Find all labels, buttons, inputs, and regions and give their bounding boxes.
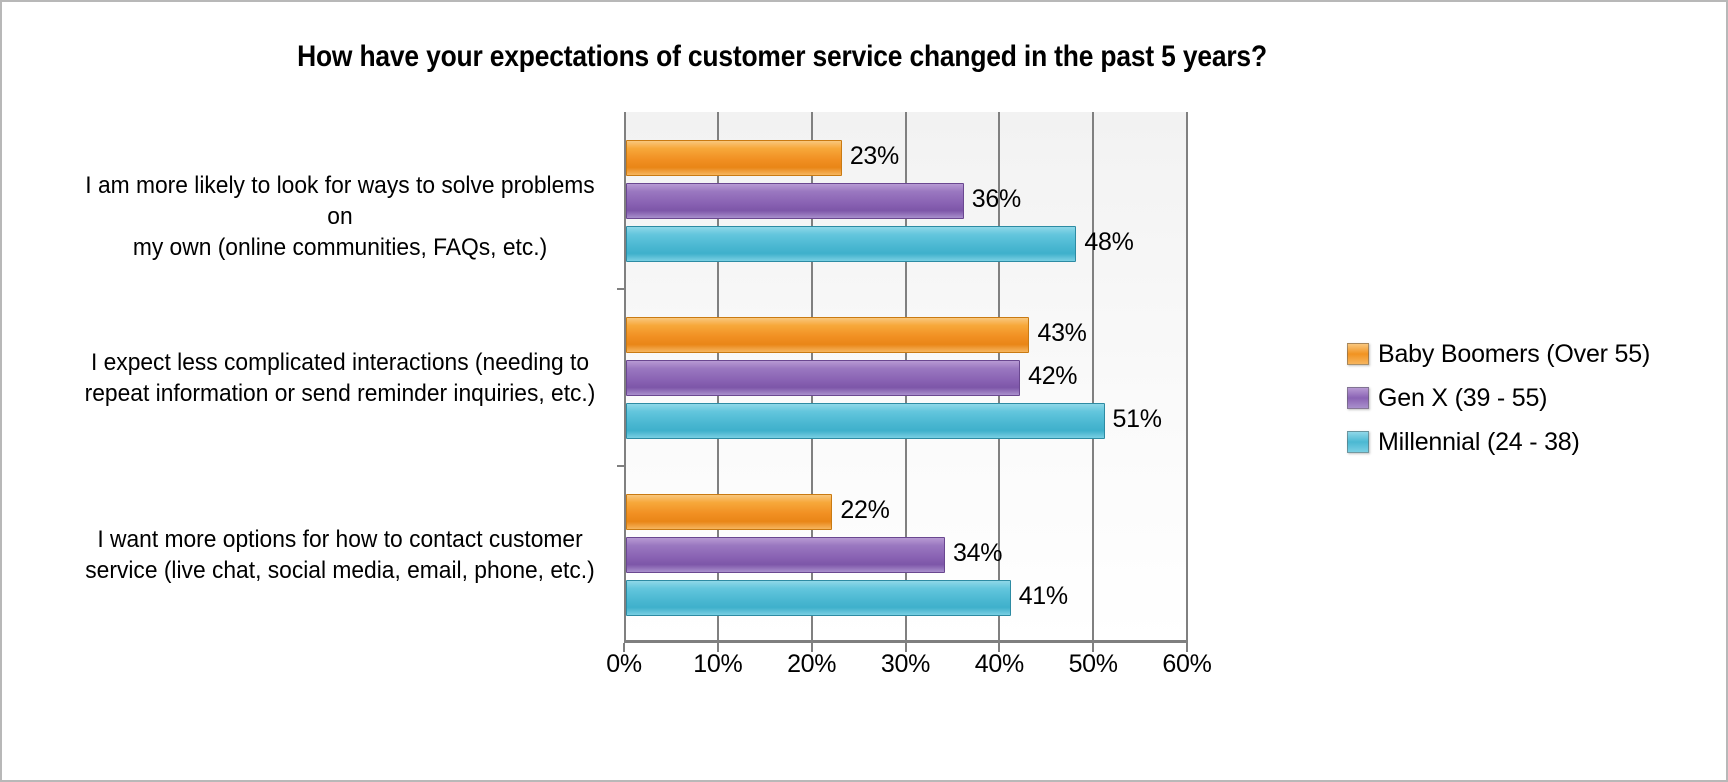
x-tick-label: 40% [954,650,1044,679]
category-label: I want more options for how to contact c… [74,524,606,586]
bar-value-label: 22% [840,496,889,525]
legend-label: Millennial (24 - 38) [1378,428,1580,457]
category-label: I am more likely to look for ways to sol… [74,170,606,263]
chart-canvas: How have your expectations of customer s… [0,0,1728,782]
bar [626,360,1020,396]
bar-value-label: 23% [850,142,899,171]
category-label: I expect less complicated interactions (… [74,347,606,409]
category-label-line: I want more options for how to contact c… [74,524,606,555]
plot-area [624,112,1187,643]
category-label-line: I am more likely to look for ways to sol… [74,170,606,232]
bar-value-label: 41% [1019,582,1068,611]
x-tick-label: 30% [861,650,951,679]
legend-label: Baby Boomers (Over 55) [1378,340,1650,369]
category-label-line: I expect less complicated interactions (… [74,347,606,378]
legend-swatch-icon [1347,431,1369,453]
legend-item[interactable]: Millennial (24 - 38) [1347,420,1677,464]
y-tickmark [617,465,624,467]
legend-label: Gen X (39 - 55) [1378,384,1547,413]
y-tickmark [617,288,624,290]
category-label-line: repeat information or send reminder inqu… [74,378,606,409]
bar-value-label: 42% [1028,362,1077,391]
x-tick-label: 50% [1048,650,1138,679]
legend-item[interactable]: Baby Boomers (Over 55) [1347,332,1677,376]
category-label-line: service (live chat, social media, email,… [74,555,606,586]
bar [626,140,842,176]
bar [626,226,1076,262]
x-tick-label: 60% [1142,650,1232,679]
chart-legend: Baby Boomers (Over 55)Gen X (39 - 55)Mil… [1347,332,1677,464]
bar [626,403,1105,439]
legend-swatch-icon [1347,343,1369,365]
bar [626,537,945,573]
chart-title: How have your expectations of customer s… [96,40,1469,74]
bar-value-label: 43% [1037,319,1086,348]
gridline [1092,112,1094,643]
bar [626,183,964,219]
x-tick-label: 0% [579,650,669,679]
bar-value-label: 48% [1084,228,1133,257]
legend-swatch-icon [1347,387,1369,409]
bar-value-label: 36% [972,185,1021,214]
bar-value-label: 51% [1113,405,1162,434]
bar [626,317,1029,353]
gridline [1186,112,1188,643]
bar [626,494,832,530]
x-tick-label: 20% [767,650,857,679]
x-tick-label: 10% [673,650,763,679]
bar [626,580,1011,616]
category-label-line: my own (online communities, FAQs, etc.) [74,232,606,263]
legend-item[interactable]: Gen X (39 - 55) [1347,376,1677,420]
bar-value-label: 34% [953,539,1002,568]
